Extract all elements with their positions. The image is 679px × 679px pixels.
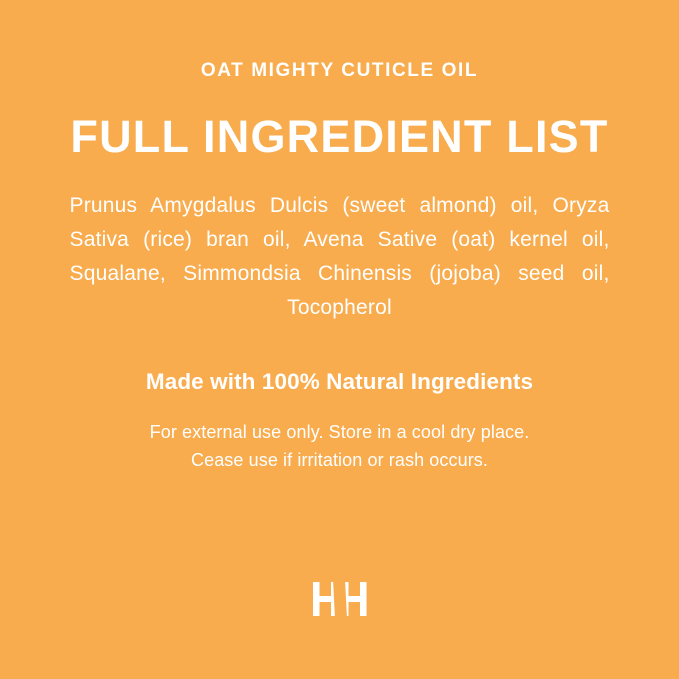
- product-name: OAT MIGHTY CUTICLE OIL: [201, 60, 478, 83]
- usage-warning-line-2: Cease use if irritation or rash occurs.: [80, 447, 600, 474]
- product-label-panel: OAT MIGHTY CUTICLE OIL FULL INGREDIENT L…: [0, 0, 679, 679]
- hh-monogram-icon: [309, 578, 371, 620]
- ingredient-list-text: Prunus Amygdalus Dulcis (sweet almond) o…: [70, 189, 610, 325]
- usage-warning-line-1: For external use only. Store in a cool d…: [80, 419, 600, 446]
- usage-warning: For external use only. Store in a cool d…: [80, 419, 600, 474]
- natural-ingredients-claim: Made with 100% Natural Ingredients: [146, 369, 533, 395]
- brand-logo: [0, 578, 679, 620]
- page-title: FULL INGREDIENT LIST: [70, 112, 608, 162]
